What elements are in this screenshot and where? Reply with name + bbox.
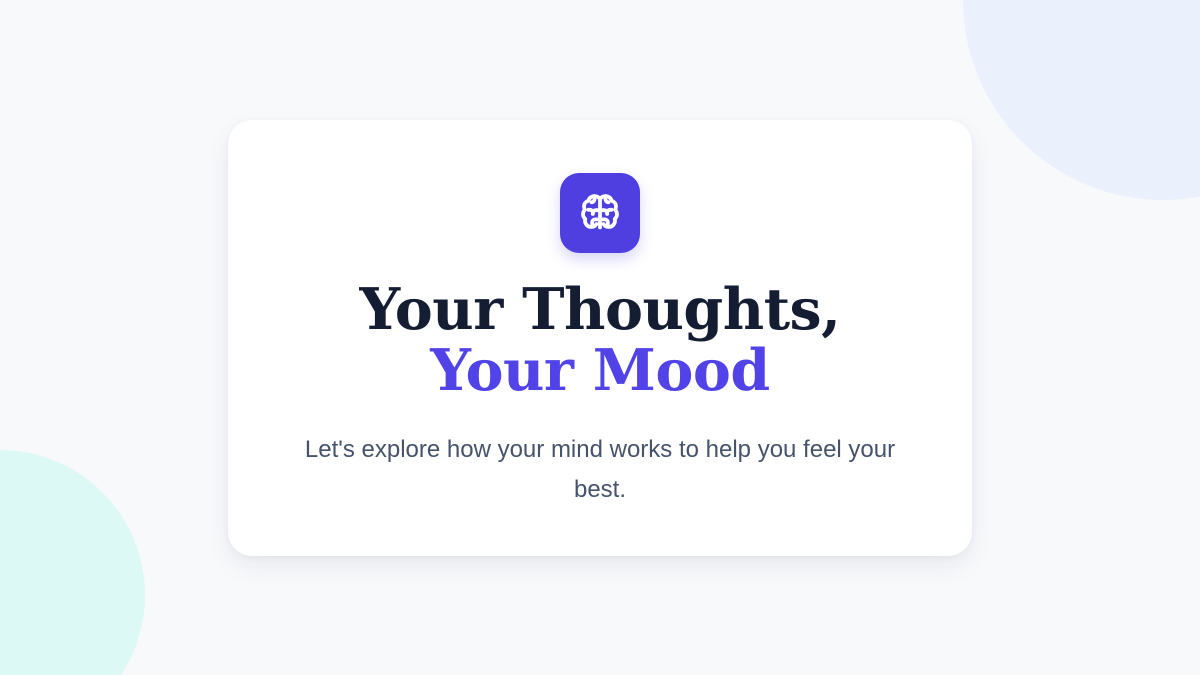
- page-title-line-1: Your Thoughts,: [360, 279, 841, 341]
- brain-icon-badge: [560, 173, 640, 253]
- intro-card: Your Thoughts, Your Mood Let's explore h…: [228, 120, 972, 556]
- page-stage: Your Thoughts, Your Mood Let's explore h…: [0, 0, 1200, 675]
- page-title: Your Thoughts, Your Mood: [360, 279, 841, 402]
- page-subtitle: Let's explore how your mind works to hel…: [295, 430, 905, 510]
- brain-icon: [576, 189, 624, 237]
- page-title-line-2: Your Mood: [360, 340, 841, 402]
